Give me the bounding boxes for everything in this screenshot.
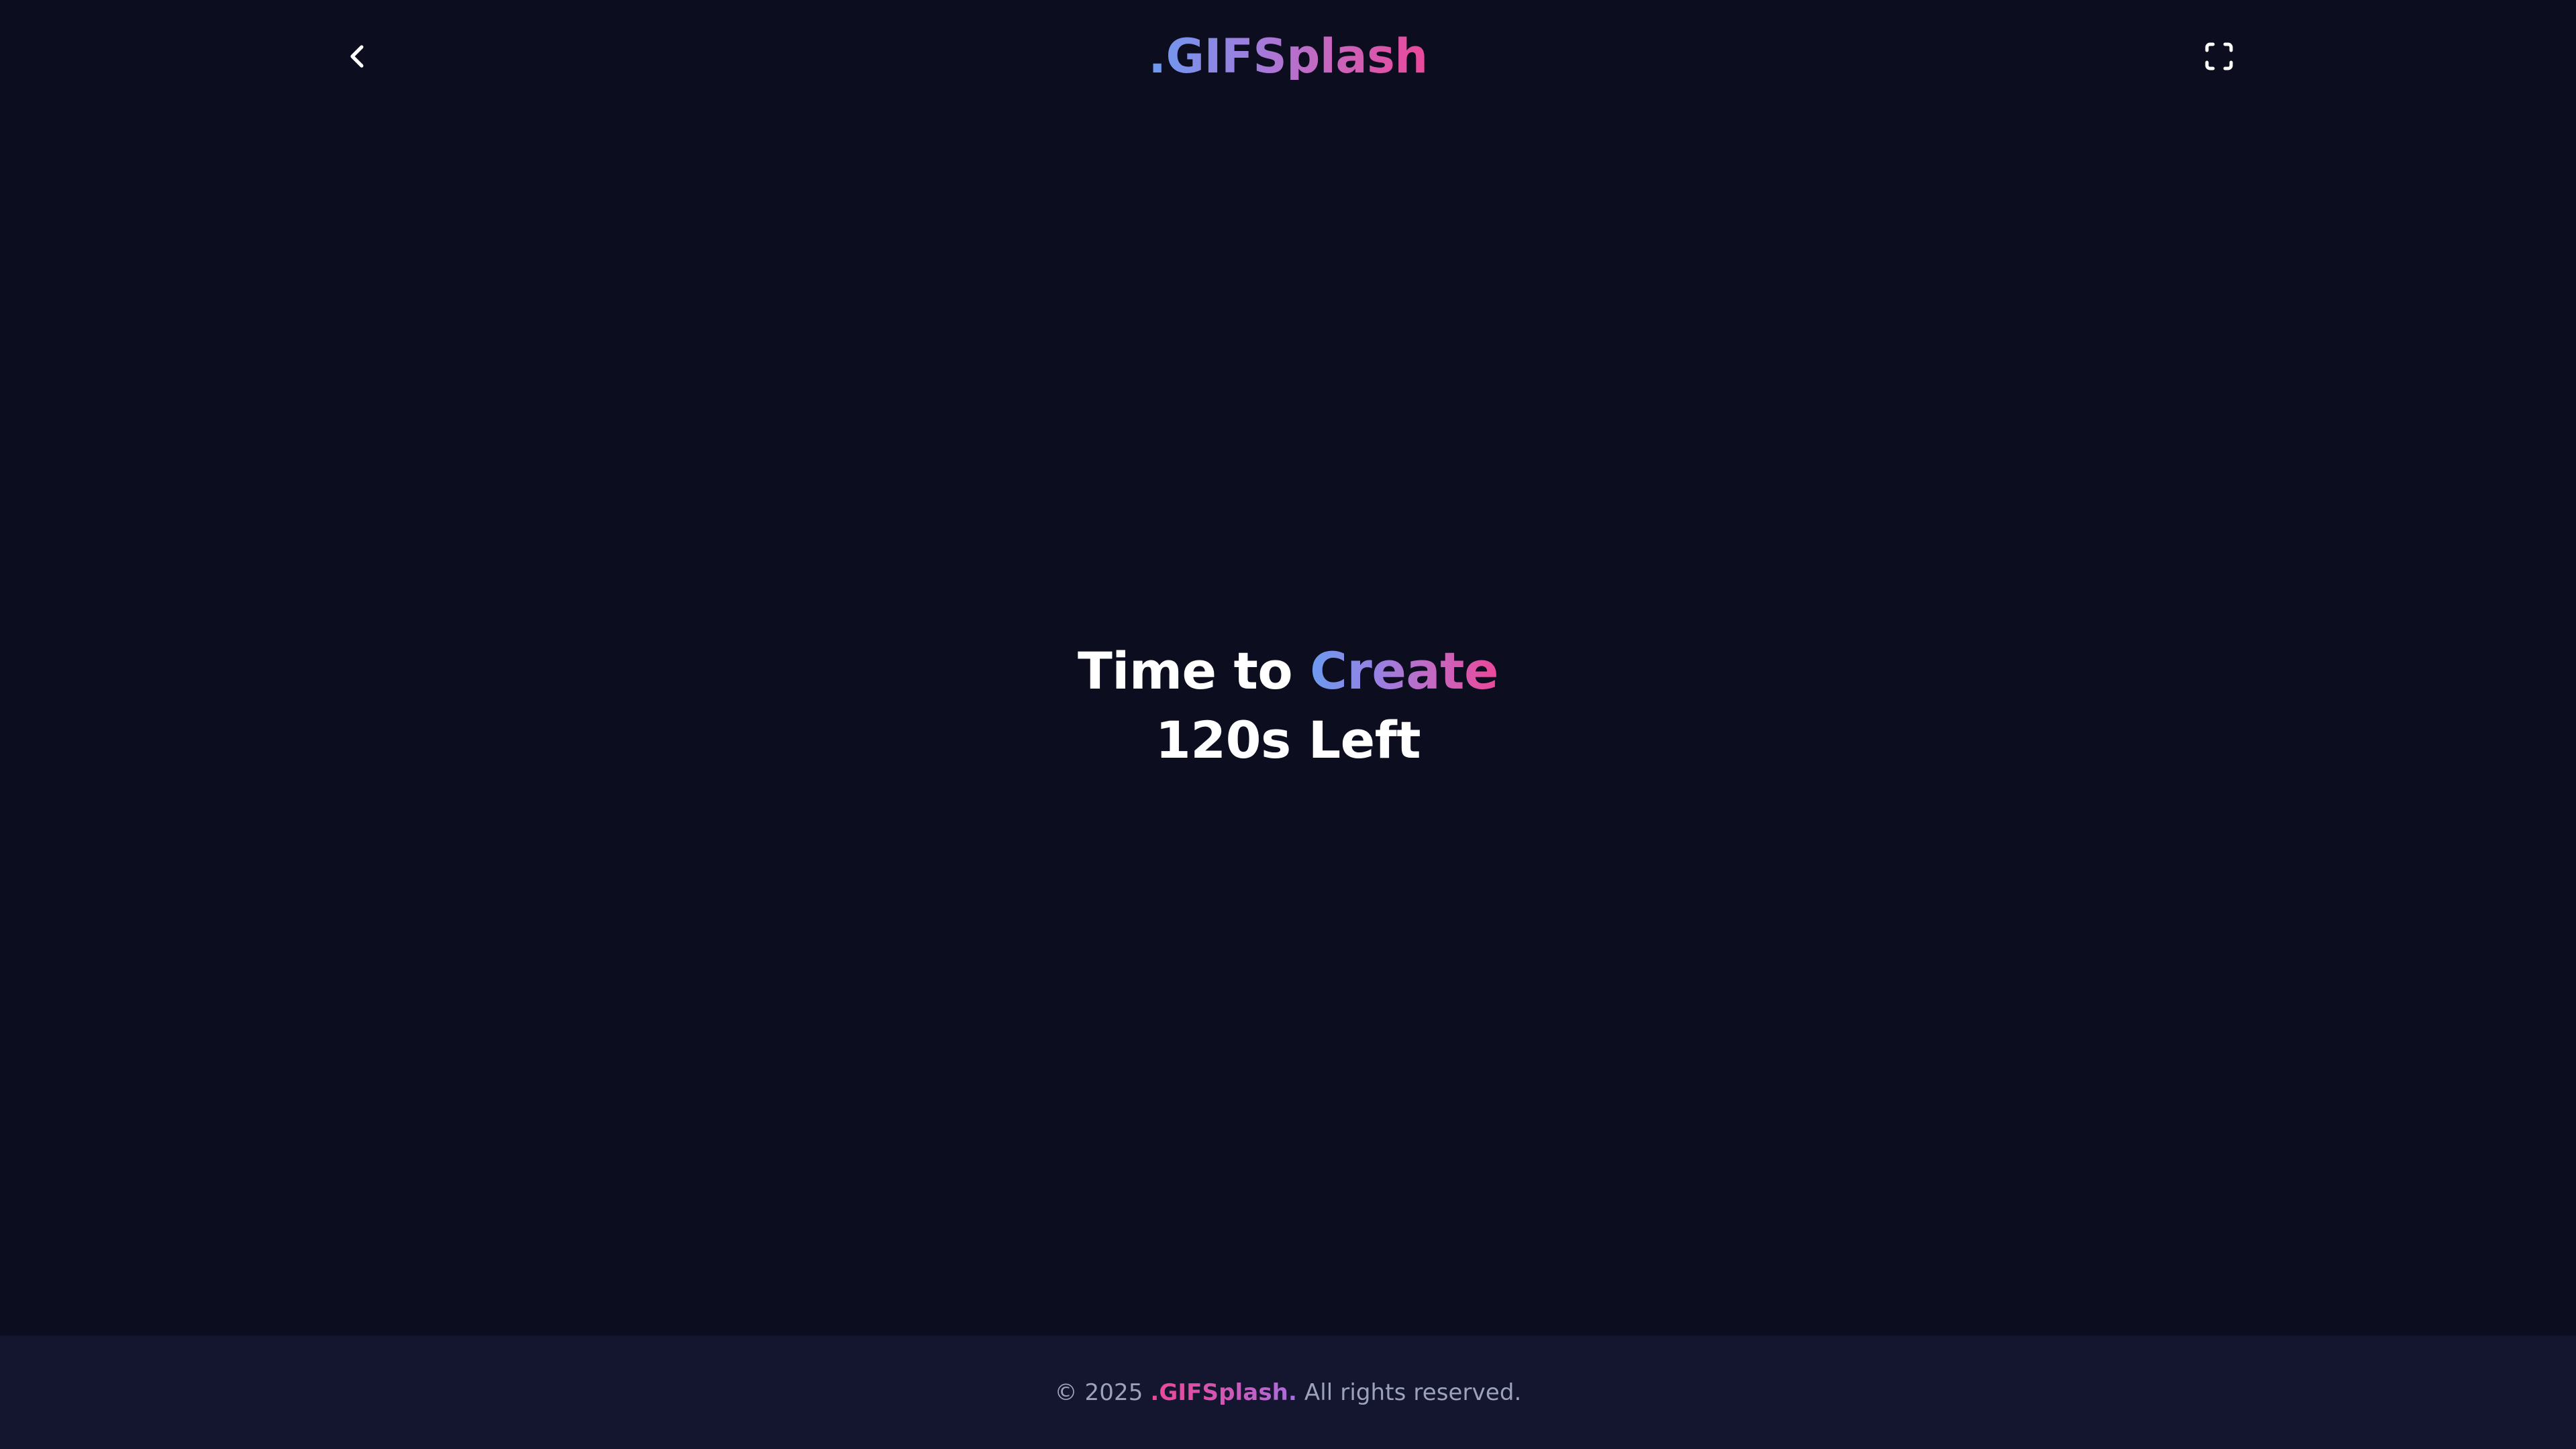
- footer-copyright: © 2025 .GIFSplash. All rights reserved.: [1055, 1379, 1522, 1406]
- fullscreen-button[interactable]: [2187, 24, 2251, 89]
- back-button[interactable]: [325, 24, 389, 89]
- footer-copyright-prefix: © 2025: [1055, 1379, 1151, 1406]
- countdown-headline: Time to Create: [1078, 638, 1498, 703]
- countdown-block: Time to Create 120s Left: [1078, 638, 1498, 773]
- headline-accent: Create: [1310, 641, 1498, 701]
- headline-prefix: Time to: [1078, 641, 1310, 701]
- footer-brand: .GIFSplash.: [1150, 1379, 1297, 1406]
- app-footer: © 2025 .GIFSplash. All rights reserved.: [0, 1336, 2576, 1449]
- fullscreen-icon: [2201, 38, 2237, 74]
- footer-rights: All rights reserved.: [1297, 1379, 1521, 1406]
- brand-logo: .GIFSplash: [1148, 33, 1427, 80]
- chevron-left-icon: [338, 38, 376, 75]
- main-stage: Time to Create 120s Left: [0, 113, 2576, 1336]
- app-header: .GIFSplash: [0, 0, 2576, 113]
- countdown-timer: 120s Left: [1078, 707, 1498, 772]
